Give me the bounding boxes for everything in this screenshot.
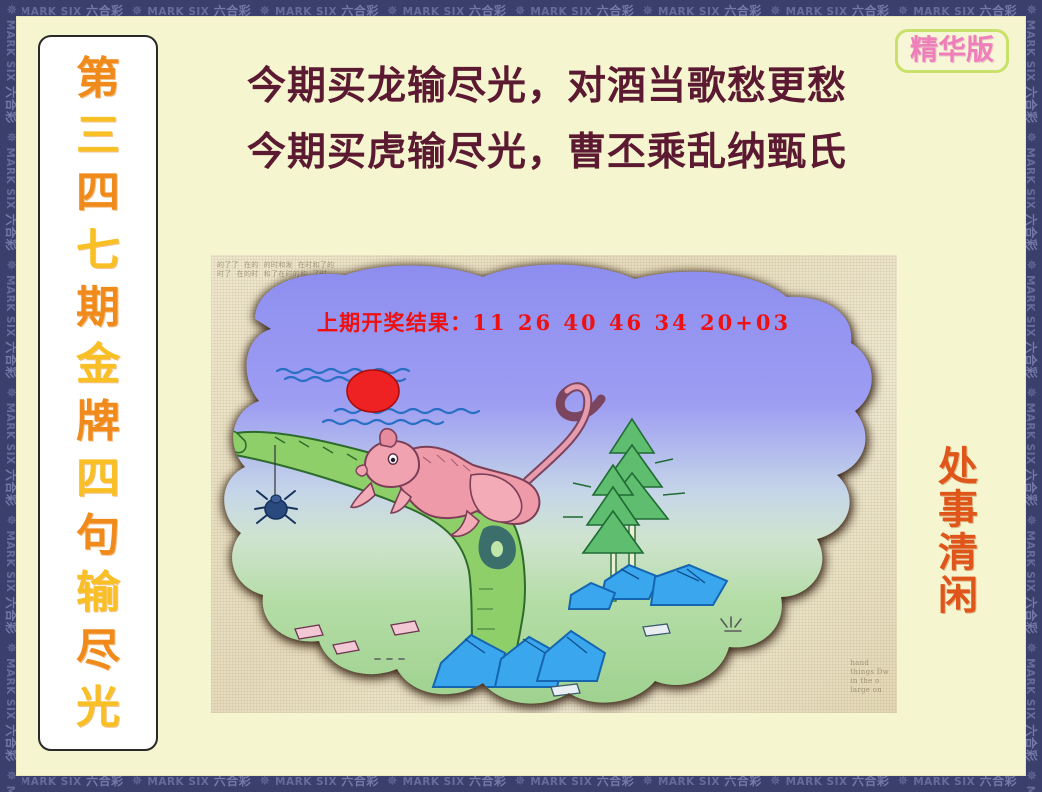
border-label-cn: 六合彩 (1024, 597, 1038, 635)
border-label-latin: MARK SIX (4, 658, 16, 720)
headline-line-2: 今期买虎输尽光，曹丕乘乱纳甄氏 (177, 133, 917, 173)
border-label-cn: 六合彩 (214, 774, 252, 788)
flower-icon: ✵ (770, 774, 781, 789)
border-tiles-bottom: ✵ MARK SIX 六合彩✵ MARK SIX 六合彩✵ MARK SIX 六… (0, 775, 1042, 788)
issue-title-char: 光 (76, 686, 120, 729)
draw-result-numbers: 11 26 40 46 34 20+03 (472, 310, 791, 335)
border-label-latin: MARK SIX (786, 776, 848, 788)
flower-icon: ✵ (515, 774, 526, 789)
border-label-latin: MARK SIX (4, 20, 16, 82)
headline-block: 今期买龙输尽光，对酒当歌愁更愁 今期买虎输尽光，曹丕乘乱纳甄氏 (177, 67, 917, 199)
issue-title-char: 尽 (76, 629, 120, 672)
issue-title-char: 输 (76, 571, 120, 614)
border-label-cn: 六合彩 (724, 774, 762, 788)
flower-icon: ✵ (132, 774, 143, 789)
poster-root: ✵ MARK SIX 六合彩✵ MARK SIX 六合彩✵ MARK SIX 六… (0, 0, 1042, 792)
poster-canvas: 第三四七期金牌四句输尽光 今期买龙输尽光，对酒当歌愁更愁 今期买虎输尽光，曹丕乘… (16, 16, 1026, 776)
issue-title-char: 牌 (76, 400, 120, 443)
border-label-cn: 六合彩 (1024, 214, 1038, 252)
issue-title-char: 期 (76, 286, 120, 329)
border-label-latin: MARK SIX (913, 776, 975, 788)
flower-icon: ✵ (897, 774, 908, 789)
flower-icon: ✵ (259, 774, 270, 789)
issue-title-char: 四 (76, 457, 120, 500)
issue-title-char: 金 (76, 343, 120, 386)
flower-icon: ✵ (1023, 4, 1038, 15)
motto-vertical: 处事清闲 (927, 447, 989, 619)
draw-result-line: 上期开奖结果：11 26 40 46 34 20+03 (215, 307, 893, 337)
border-label-cn: 六合彩 (1024, 86, 1038, 124)
issue-title-char: 第 (76, 57, 120, 100)
illustration-plate: 的了了 在的 的时和发 在时和了的 时了 在的时 和了在时的和 了时 hand … (211, 255, 897, 713)
border-label-latin: MARK SIX (4, 147, 16, 209)
issue-title-char: 四 (76, 171, 120, 214)
issue-title-banner: 第三四七期金牌四句输尽光 (38, 35, 158, 751)
motto-char: 事 (938, 490, 978, 530)
border-label-cn: 六合彩 (1024, 469, 1038, 507)
flower-icon: ✵ (387, 774, 398, 789)
motto-char: 闲 (938, 576, 978, 616)
issue-title-char: 句 (76, 514, 120, 557)
border-label-cn: 六合彩 (469, 774, 507, 788)
border-label-latin: MARK SIX (658, 776, 720, 788)
border-label-cn: 六合彩 (597, 774, 635, 788)
border-label-cn: 六合彩 (980, 774, 1018, 788)
border-label-latin: MARK SIX (4, 275, 16, 337)
border-label-latin: MARK SIX (4, 786, 16, 792)
motto-char: 处 (938, 447, 978, 487)
border-label-cn: 六合彩 (852, 774, 890, 788)
border-label-latin: MARK SIX (530, 776, 592, 788)
border-label-latin: MARK SIX (4, 403, 16, 465)
border-label-latin: MARK SIX (4, 530, 16, 592)
border-label-cn: 六合彩 (1024, 341, 1038, 379)
flower-icon: ✵ (642, 774, 653, 789)
flower-icon: ✵ (3, 4, 18, 15)
border-label-latin: MARK SIX (20, 776, 82, 788)
scene-cloud-shape: 上期开奖结果：11 26 40 46 34 20+03 (215, 259, 893, 709)
border-label-latin: MARK SIX (403, 776, 465, 788)
border-label-latin: MARK SIX (275, 776, 337, 788)
headline-line-1: 今期买龙输尽光，对酒当歌愁更愁 (177, 67, 917, 107)
motto-char: 清 (938, 533, 978, 573)
issue-title-char: 三 (76, 114, 120, 157)
border-label-latin: MARK SIX (1024, 786, 1036, 792)
border-label-cn: 六合彩 (341, 774, 379, 788)
edition-badge: 精华版 (895, 29, 1009, 73)
border-label-cn: 六合彩 (1024, 724, 1038, 762)
draw-result-label: 上期开奖结果： (317, 311, 472, 335)
issue-title-char: 七 (76, 229, 120, 272)
sun-icon (347, 370, 399, 412)
border-label-cn: 六合彩 (86, 774, 124, 788)
border-label-latin: MARK SIX (147, 776, 209, 788)
